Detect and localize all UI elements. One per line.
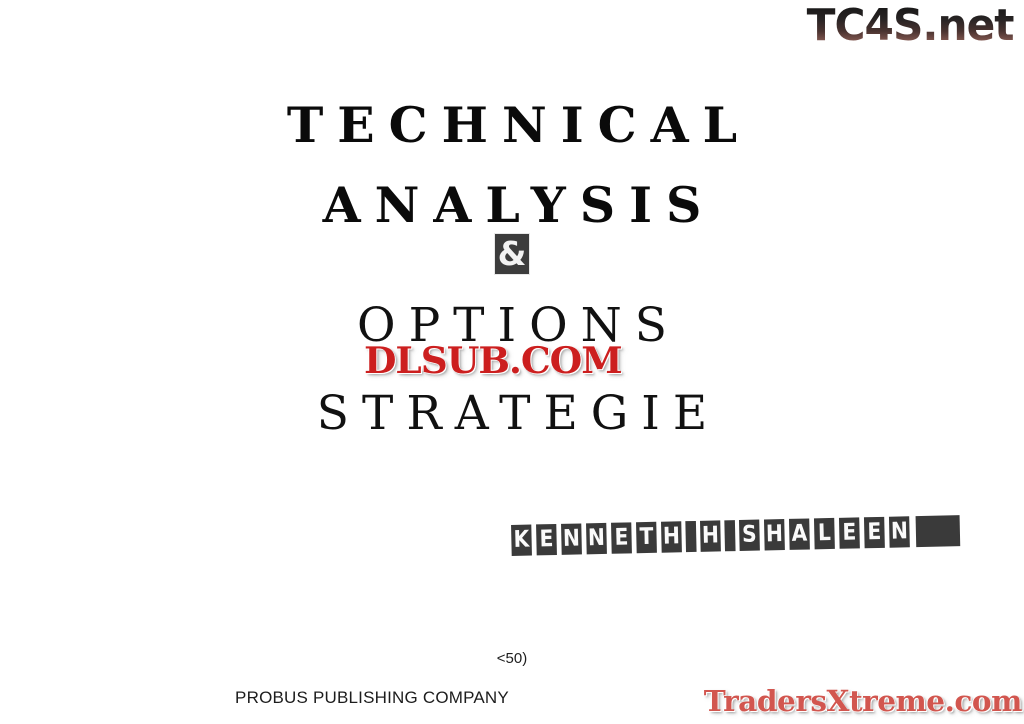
cover-title-line-2: ANALYSIS [0,176,1024,234]
dlsub-com-watermark: DLSUB.COM [364,341,622,381]
book-cover-page: TC4S.net TECHNICAL ANALYSIS & OPTIONS DL… [0,0,1024,724]
author-name-band: KENNETH H SHALEEN [510,515,966,556]
author-band-cell: K [511,525,532,556]
page-number: <50) [0,650,1024,667]
ampersand-container: & [0,234,1024,274]
author-band-cell: N [586,523,607,554]
author-band-tail-cell [916,515,961,547]
author-band-cell: T [636,522,657,553]
author-band-cell: S [739,520,760,551]
author-band-cell: N [889,516,910,547]
author-band-cell: L [814,518,835,549]
author-band-cell: H [700,520,721,551]
author-band-cell: E [864,517,885,548]
author-band-cell [724,520,735,551]
author-band-cell: E [536,524,557,555]
tradersxtreme-com-watermark: TradersXtreme.com [704,684,1022,718]
cover-title-line-1: TECHNICAL [0,96,1024,154]
author-band-cell [685,521,696,552]
author-band-cell: H [661,521,682,552]
author-band-cell: A [789,518,810,549]
cover-subtitle-line-2: STRATEGIE [0,386,1024,441]
author-band-cell: E [611,522,632,553]
author-band-cell: E [839,517,860,548]
ampersand-box: & [495,234,529,274]
author-band-cell: N [561,523,582,554]
author-band-cell: H [764,519,785,550]
tc4s-logo-watermark: TC4S.net [807,4,1014,48]
